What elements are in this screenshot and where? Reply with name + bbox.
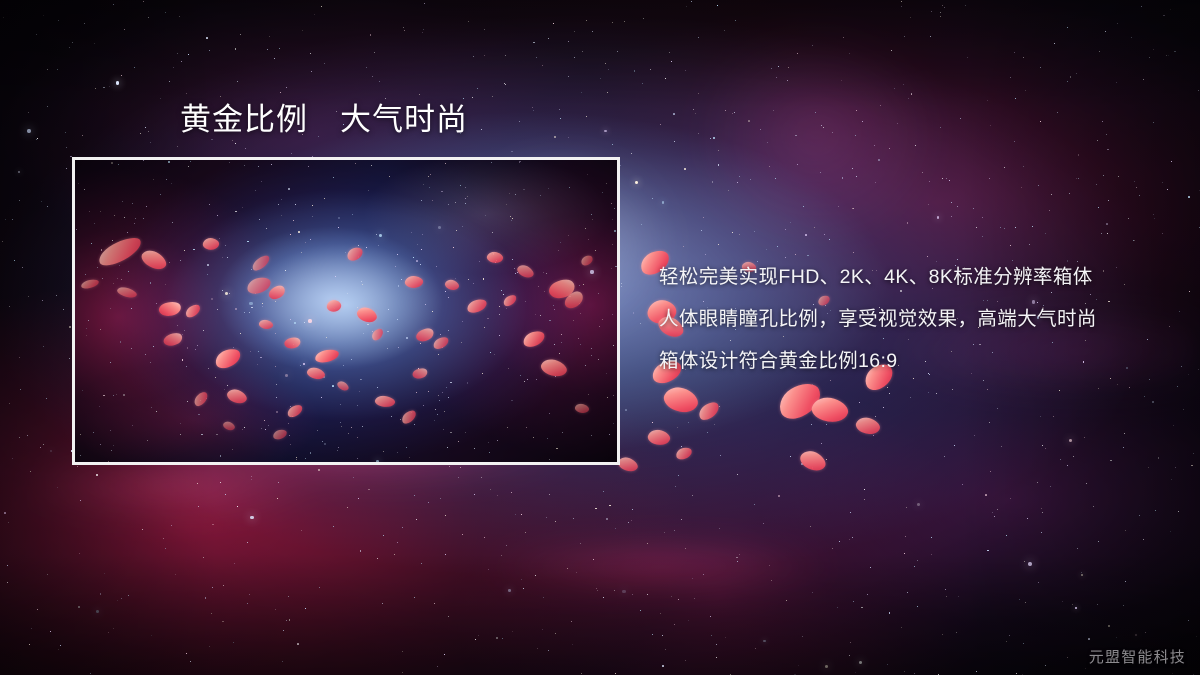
slide-title: 黄金比例 大气时尚: [180, 101, 468, 140]
body-text-line-2: 人体眼睛瞳孔比例，享受视觉效果，高端大气时尚: [659, 298, 1179, 340]
presentation-slide: 黄金比例 大气时尚 轻松完美实现FHD、2K、4K、8K标准分辨率箱体 人体眼睛…: [0, 0, 1200, 675]
framed-photo: [72, 157, 620, 465]
flower-petal: [797, 446, 829, 475]
watermark-label: 元盟智能科技: [1089, 646, 1186, 667]
flower-petal: [660, 382, 701, 418]
flower-petal: [854, 414, 882, 438]
flower-petal: [675, 446, 693, 460]
body-text-block: 轻松完美实现FHD、2K、4K、8K标准分辨率箱体 人体眼睛瞳孔比例，享受视觉效…: [659, 256, 1179, 382]
flower-petal: [696, 399, 722, 422]
flower-petal: [646, 427, 672, 448]
body-text-line-3: 箱体设计符合黄金比例16:9: [659, 340, 1179, 382]
body-text-line-1: 轻松完美实现FHD、2K、4K、8K标准分辨率箱体: [659, 256, 1179, 298]
flower-petal: [774, 378, 826, 423]
photo-nebula-image: [75, 160, 617, 462]
flower-petal: [809, 393, 851, 427]
